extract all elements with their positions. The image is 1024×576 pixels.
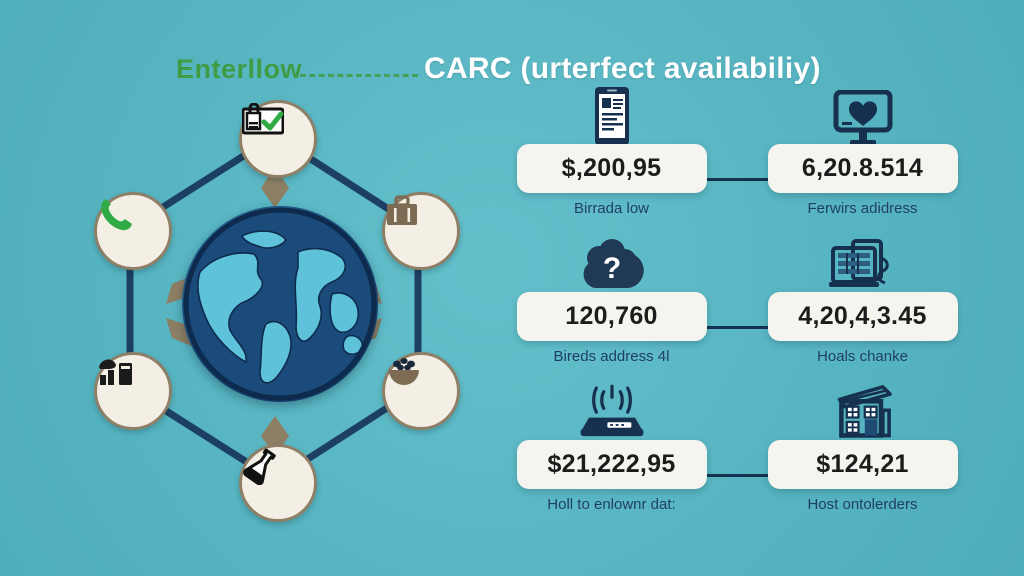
monitor-heart-icon [827,86,899,148]
dashed-connector-icon [300,74,418,77]
stat-value-3: 120,760 [537,302,687,331]
stat-chip-2[interactable]: 6,20.8.514 [768,144,958,193]
stats-grid: $,200,95 Birrada low 6,20.8.514 Ferwirs … [500,86,1010,556]
page-title: CARC (urterfect availabiliy) [424,52,821,86]
globe-icon [182,206,378,402]
stat-chip-6[interactable]: $124,21 [768,440,958,489]
stat-cell-1[interactable]: $,200,95 Birrada low [494,86,729,238]
node-id-badge[interactable] [239,100,317,178]
infographic-canvas: Enterllow CARC (urterfect availabiliy) [0,0,1024,576]
stat-chip-5[interactable]: $21,222,95 [517,440,707,489]
node-flask[interactable] [239,444,317,522]
briefcase-icon [385,195,419,227]
brand-label: Enterllow [176,54,302,85]
server-rack-icon [827,234,899,296]
stat-value-2: 6,20.8.514 [788,154,938,183]
stat-caption-5: Holl to enlownr dat: [547,496,675,513]
stat-cell-3[interactable]: ? 120,760 Bireds address 4l [494,234,729,386]
node-bar-chart[interactable] [94,352,172,430]
phone-icon [97,195,135,233]
network-diagram [60,88,480,548]
food-bowl-icon [385,355,423,385]
stat-caption-1: Birrada low [574,200,649,217]
stat-caption-6: Host ontolerders [807,496,917,513]
node-briefcase[interactable] [382,192,460,270]
stat-cell-4[interactable]: 4,20,4,3.45 Hoals chanke [745,234,980,386]
stat-chip-3[interactable]: 120,760 [517,292,707,341]
stat-cell-5[interactable]: $21,222,95 Holl to enlownr dat: [494,382,729,534]
stat-value-1: $,200,95 [537,154,687,183]
stat-cell-2[interactable]: 6,20.8.514 Ferwirs adidress [745,86,980,238]
stat-value-4: 4,20,4,3.45 [788,302,938,331]
bar-chart-icon [97,355,135,389]
svg-text:?: ? [602,252,620,285]
stat-caption-4: Hoals chanke [817,348,908,365]
smartphone-document-icon [576,86,648,148]
header: Enterllow CARC (urterfect availabiliy) [0,24,1024,80]
stat-value-6: $124,21 [788,450,938,479]
flask-icon [242,447,280,485]
cloud-question-icon: ? [576,234,648,296]
stat-cell-6[interactable]: $124,21 Host ontolerders [745,382,980,534]
node-food-bowl[interactable] [382,352,460,430]
stat-chip-1[interactable]: $,200,95 [517,144,707,193]
node-phone[interactable] [94,192,172,270]
stat-caption-3: Bireds address 4l [554,348,670,365]
house-icon [827,382,899,444]
stat-chip-4[interactable]: 4,20,4,3.45 [768,292,958,341]
id-badge-check-icon [242,103,284,137]
stat-caption-2: Ferwirs adidress [807,200,917,217]
stat-value-5: $21,222,95 [537,450,687,479]
wifi-router-icon [576,382,648,444]
